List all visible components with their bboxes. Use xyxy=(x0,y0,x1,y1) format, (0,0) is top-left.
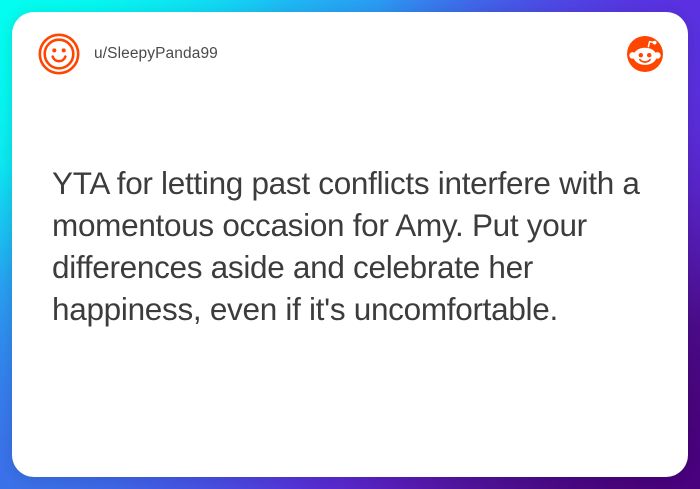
reddit-snoo-logo-icon[interactable] xyxy=(626,35,664,73)
avatar[interactable] xyxy=(38,33,80,75)
reddit-comment-card: u/SleepyPanda99 YTA for letting p xyxy=(12,12,688,477)
card-header: u/SleepyPanda99 xyxy=(12,12,688,96)
post-text: YTA for letting past conflicts interfere… xyxy=(52,162,652,330)
gradient-backdrop: u/SleepyPanda99 YTA for letting p xyxy=(0,0,700,489)
username-label: u/SleepyPanda99 xyxy=(94,45,218,63)
smiley-face-avatar-icon xyxy=(38,33,80,75)
post-body: YTA for letting past conflicts interfere… xyxy=(52,162,652,330)
